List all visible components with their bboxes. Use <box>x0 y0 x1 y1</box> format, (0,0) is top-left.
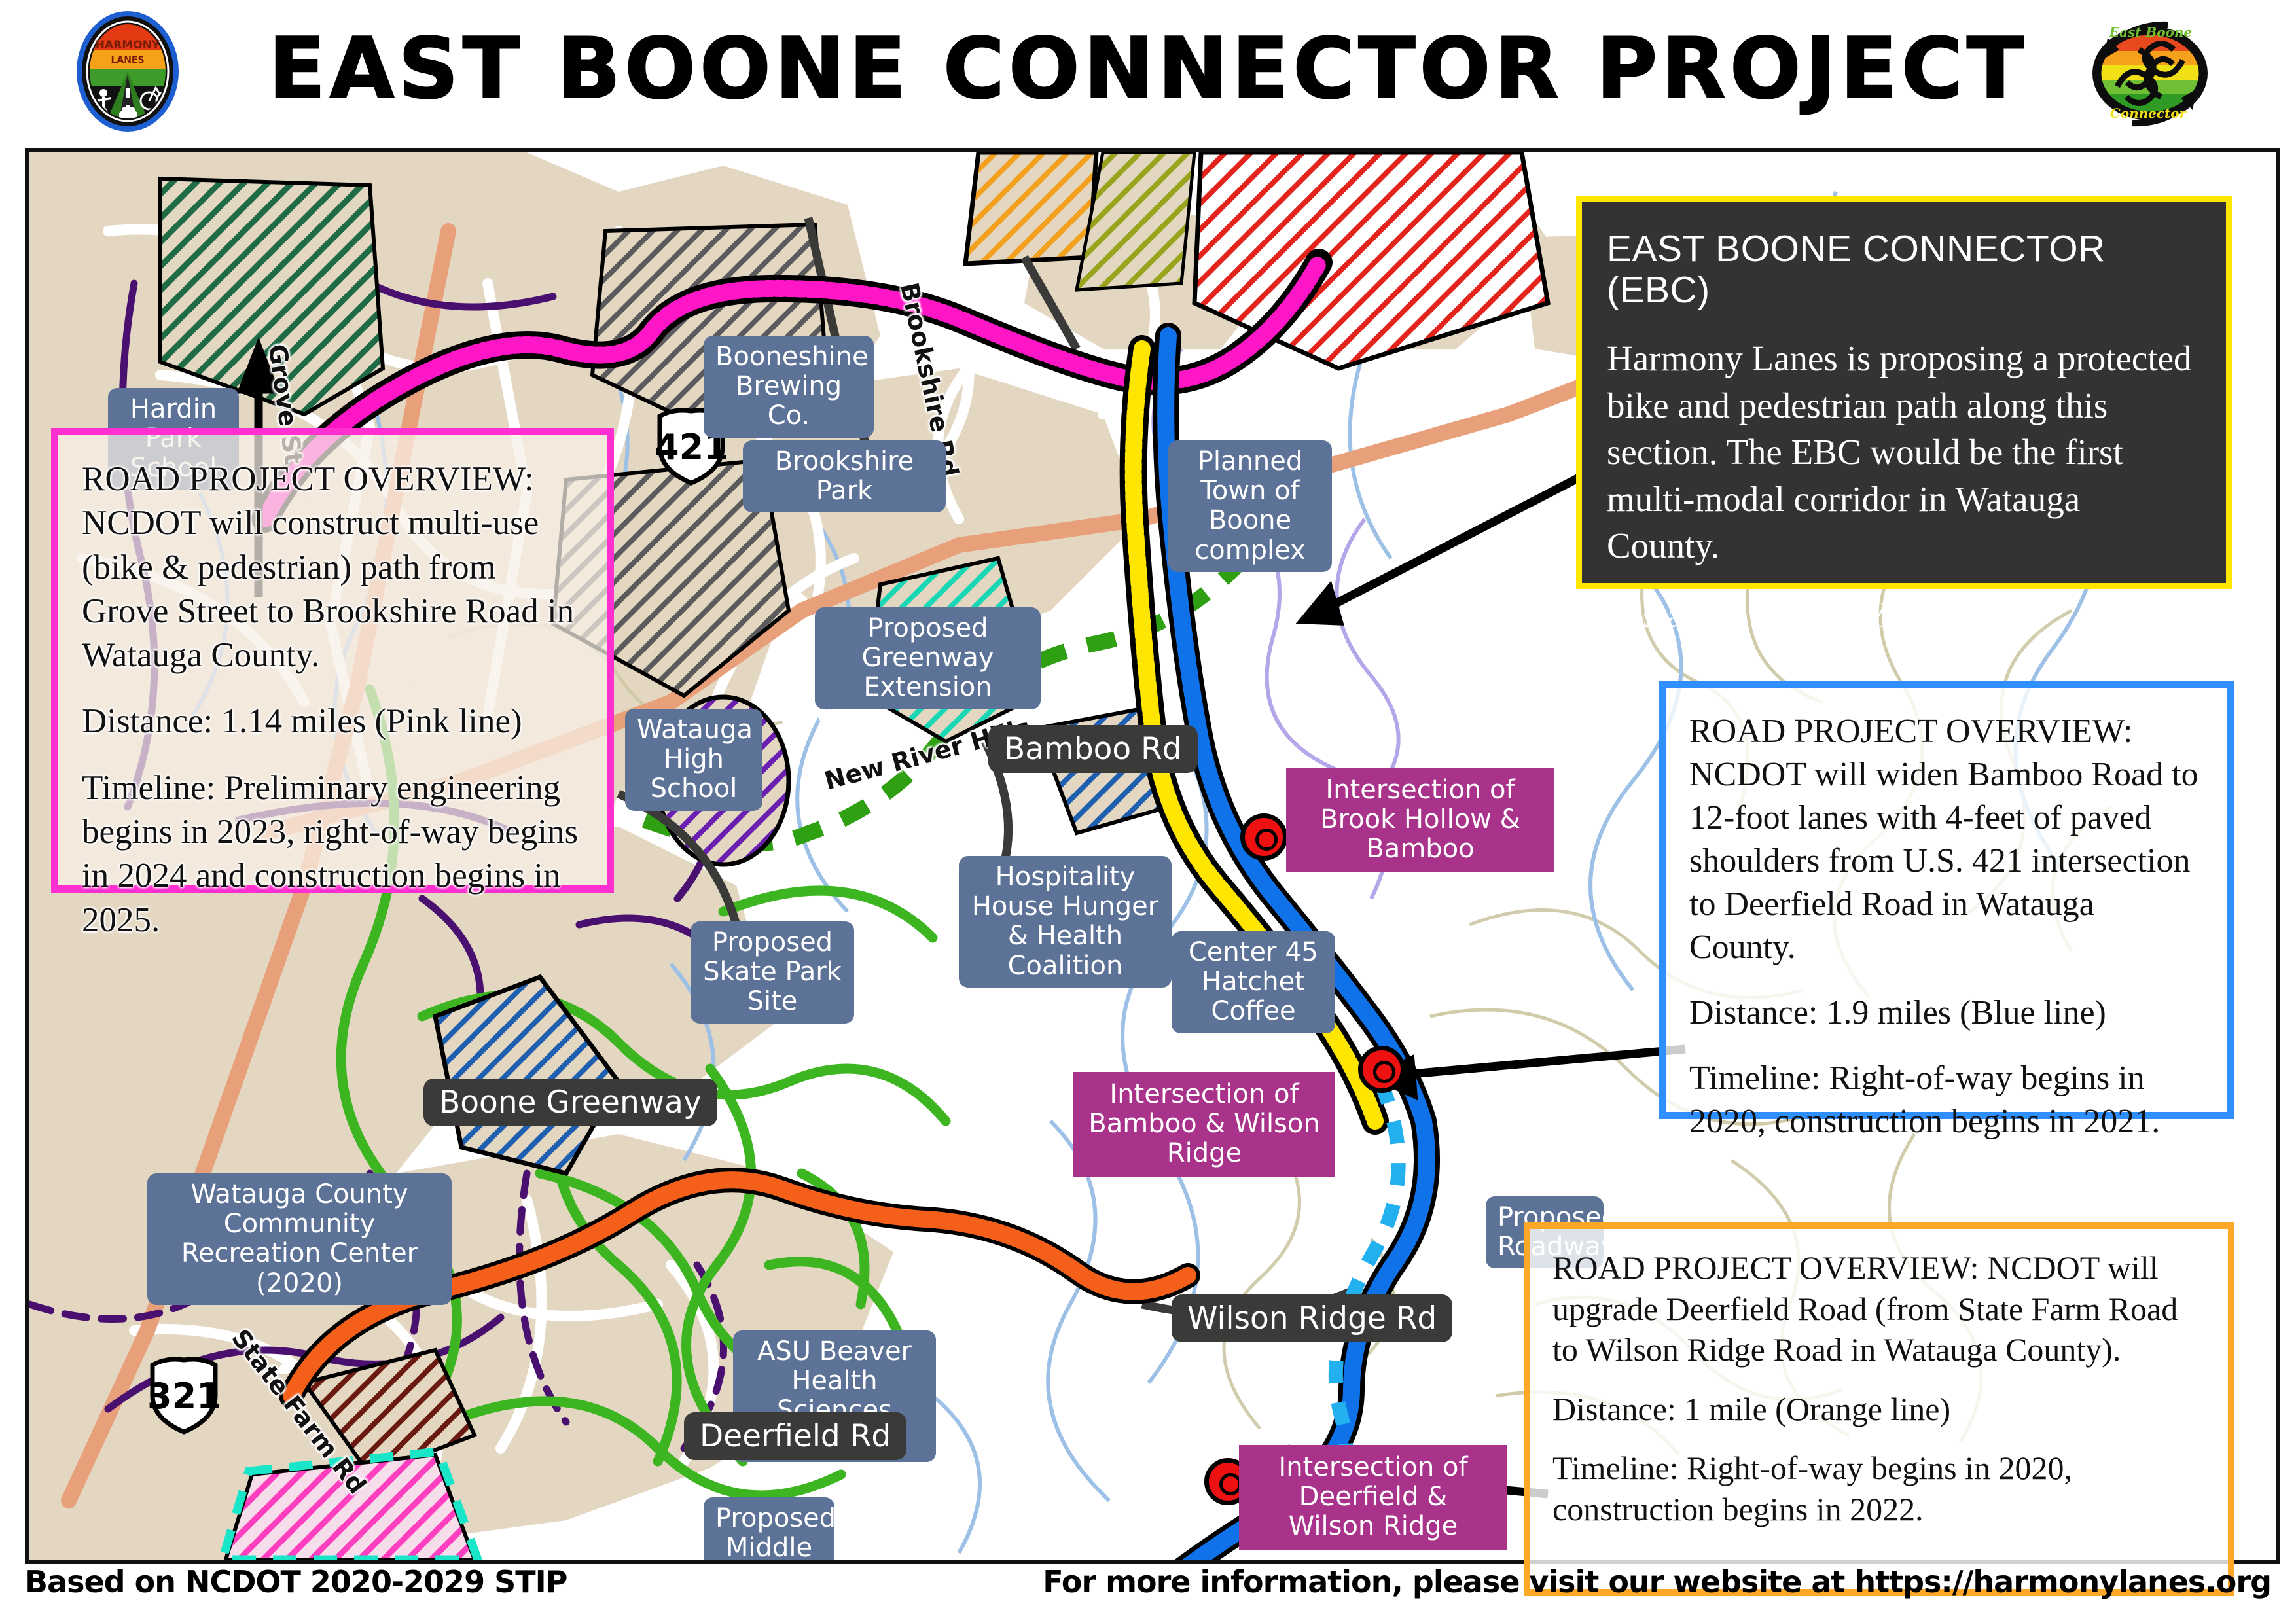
infobox-orange-overview: ROAD PROJECT OVERVIEW: NCDOT will upgrad… <box>1552 1247 2206 1370</box>
infobox-blue-body: NCDOT will widen Bamboo Road to 12-foot … <box>1689 756 2198 966</box>
infobox-pink-multiuse-path: ROAD PROJECT OVERVIEW: NCDOT will constr… <box>51 428 614 893</box>
road-label-wilson-ridge-rd[interactable]: Wilson Ridge Rd <box>1172 1294 1452 1342</box>
infobox-blue-distance: Distance: 1.9 miles (Blue line) <box>1689 991 2204 1035</box>
intersection-label-bamboo-wilson-ridge[interactable]: Intersection of Bamboo & Wilson Ridge <box>1073 1072 1335 1177</box>
infobox-pink-timeline: Timeline: Preliminary engineering begins… <box>82 766 583 942</box>
poi-label-watauga-rec-center[interactable]: Watauga County Community Recreation Cent… <box>147 1173 452 1305</box>
infobox-blue-overview: ROAD PROJECT OVERVIEW: NCDOT will widen … <box>1689 710 2204 969</box>
infobox-ebc-title: EAST BOONE CONNECTOR (EBC) <box>1607 228 2201 310</box>
footer-source-note: Based on NCDOT 2020-2029 STIP <box>25 1564 567 1599</box>
street-name-state-farm-rd: State Farm Rd <box>226 1324 372 1499</box>
poster-header: HARMONY LANES EAST BOONE CONNECTOR PROJE… <box>0 0 2296 141</box>
poi-label-center-45-hatchet-coffee[interactable]: Center 45 Hatchet Coffee <box>1172 931 1335 1033</box>
infobox-orange-distance: Distance: 1 mile (Orange line) <box>1552 1389 2206 1430</box>
page-title: EAST BOONE CONNECTOR PROJECT <box>0 4 2296 135</box>
infobox-ebc-body: Harmony Lanes is proposing a protected b… <box>1607 335 2201 569</box>
poi-label-proposed-skate-park[interactable]: Proposed Skate Park Site <box>691 921 854 1024</box>
infobox-pink-body: NCDOT will construct multi-use (bike & p… <box>82 504 574 674</box>
infobox-pink-overview-label: ROAD PROJECT OVERVIEW: <box>82 460 534 498</box>
infobox-blue-bamboo-widening: ROAD PROJECT OVERVIEW: NCDOT will widen … <box>1659 681 2234 1119</box>
infobox-orange-overview-label: ROAD PROJECT OVERVIEW: <box>1552 1249 1979 1286</box>
east-boone-connector-logo-icon: East Boone Connector <box>2088 9 2212 134</box>
road-label-boone-greenway[interactable]: Boone Greenway <box>423 1079 717 1126</box>
poi-label-booneshine-brewing[interactable]: Booneshine Brewing Co. <box>704 336 874 438</box>
poi-label-planned-town-complex[interactable]: Planned Town of Boone complex <box>1168 440 1332 572</box>
infobox-blue-overview-label: ROAD PROJECT OVERVIEW: <box>1689 713 2133 750</box>
infobox-blue-timeline: Timeline: Right-of-way begins in 2020, c… <box>1689 1057 2204 1143</box>
us-321-shield-label: 321 <box>147 1376 221 1417</box>
poster-footer: Based on NCDOT 2020-2029 STIP For more i… <box>25 1564 2271 1615</box>
infobox-orange-deerfield-upgrade: ROAD PROJECT OVERVIEW: NCDOT will upgrad… <box>1524 1222 2234 1596</box>
intersection-label-brook-hollow-bamboo[interactable]: Intersection of Brook Hollow & Bamboo <box>1286 768 1554 872</box>
infobox-pink-distance: Distance: 1.14 miles (Pink line) <box>82 700 583 743</box>
intersection-label-deerfield-wilson-ridge[interactable]: Intersection of Deerfield & Wilson Ridge <box>1239 1445 1507 1550</box>
poi-label-proposed-greenway-extension[interactable]: Proposed Greenway Extension <box>815 607 1041 709</box>
infobox-ebc-distance: Distance: 1 mile (Yellow line) <box>1607 592 2201 639</box>
poi-label-brookshire-park[interactable]: Brookshire Park <box>743 440 946 512</box>
road-label-bamboo-rd[interactable]: Bamboo Rd <box>988 725 1198 773</box>
footer-website-note: For more information, please visit our w… <box>1043 1564 2271 1599</box>
us-321-shield: 321 <box>147 1353 221 1437</box>
poster-root: HARMONY LANES EAST BOONE CONNECTOR PROJE… <box>0 0 2296 1623</box>
poi-label-proposed-middle-fork-greenway[interactable]: Proposed Middle Fork Greenway <box>704 1497 834 1564</box>
infobox-orange-timeline: Timeline: Right-of-way begins in 2020, c… <box>1552 1448 2206 1529</box>
road-label-deerfield-rd[interactable]: Deerfield Rd <box>684 1412 906 1460</box>
svg-text:Connector: Connector <box>2110 105 2187 121</box>
infobox-pink-overview: ROAD PROJECT OVERVIEW: NCDOT will constr… <box>82 457 583 677</box>
poi-label-watauga-high-school[interactable]: Watauga High School <box>625 709 762 811</box>
infobox-east-boone-connector: EAST BOONE CONNECTOR (EBC) Harmony Lanes… <box>1576 196 2232 589</box>
svg-text:East Boone: East Boone <box>2109 24 2193 40</box>
poi-label-hospitality-house[interactable]: Hospitality House Hunger & Health Coalit… <box>959 856 1172 988</box>
intersection-dot-brook-hollow-bamboo[interactable] <box>1240 813 1287 861</box>
intersection-dot-bamboo-wilson-ridge[interactable] <box>1358 1046 1405 1093</box>
